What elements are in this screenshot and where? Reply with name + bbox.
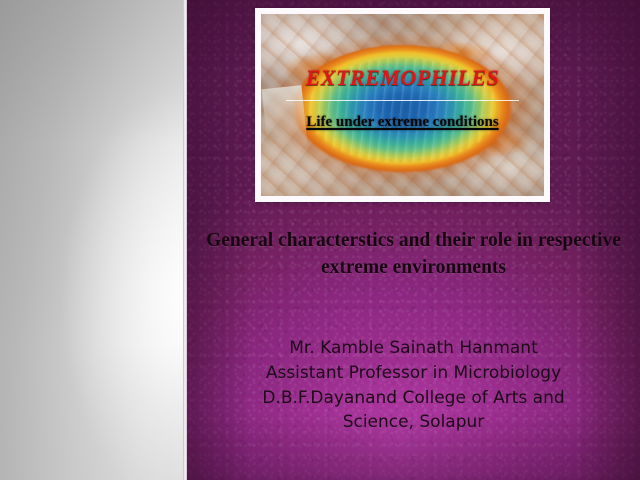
subtitle-line-institution-2: Science, Solapur — [201, 410, 626, 435]
subtitle-line-author: Mr. Kamble Sainath Hanmant — [201, 336, 626, 361]
slide-subtitle-block: Mr. Kamble Sainath Hanmant Assistant Pro… — [187, 336, 640, 435]
grand-prismatic-spring-photo: EXTREMOPHILES Life under extreme conditi… — [261, 14, 544, 196]
photo-overlay-title-rule — [286, 100, 518, 101]
photo-overlay-subtitle: Life under extreme conditions — [261, 114, 544, 131]
slide-title: General characterstics and their role in… — [187, 228, 640, 282]
left-panel-sheen — [0, 0, 186, 480]
subtitle-line-institution-1: D.B.F.Dayanand College of Arts and — [201, 386, 626, 411]
left-gray-panel — [0, 0, 186, 480]
photo-frame: EXTREMOPHILES Life under extreme conditi… — [255, 8, 550, 202]
photo-overlay-title: EXTREMOPHILES — [261, 65, 544, 91]
subtitle-line-designation: Assistant Professor in Microbiology — [201, 361, 626, 386]
presentation-slide: EXTREMOPHILES Life under extreme conditi… — [0, 0, 640, 480]
